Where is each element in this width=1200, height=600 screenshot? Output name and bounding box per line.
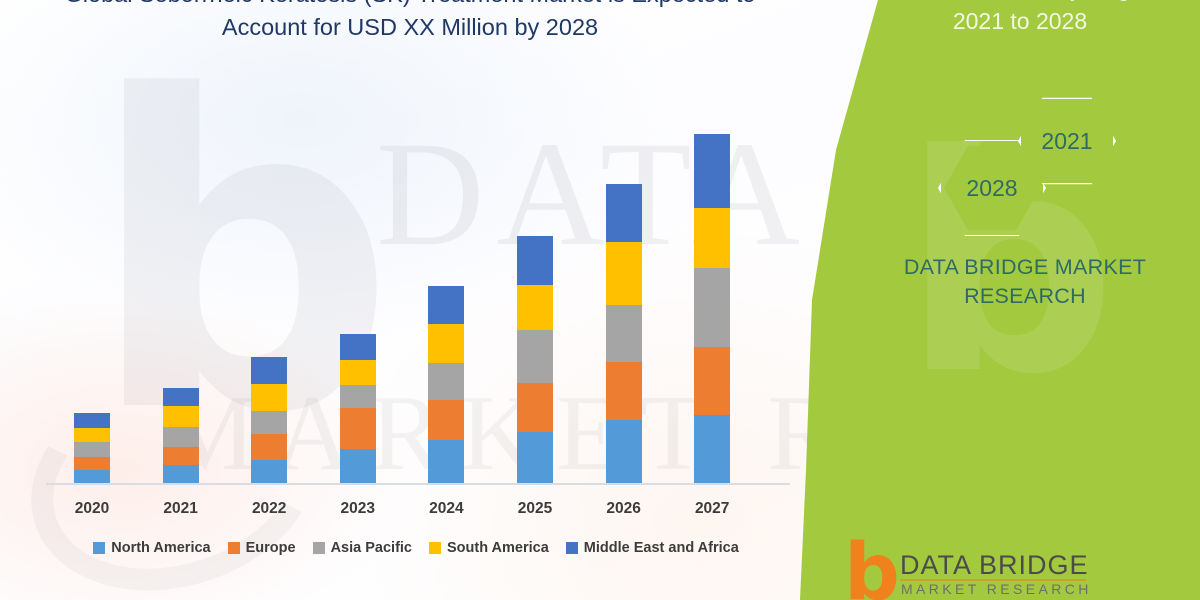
legend-label: South America — [447, 540, 549, 556]
bar-segment — [517, 236, 553, 285]
bar-segment — [251, 460, 287, 483]
x-axis-label: 2022 — [234, 500, 304, 518]
bar-segment — [517, 285, 553, 330]
bar-segment — [606, 184, 642, 242]
legend-swatch-icon — [228, 542, 240, 554]
legend-swatch-icon — [429, 542, 441, 554]
bar-segment — [694, 347, 730, 415]
chart-legend: North AmericaEuropeAsia PacificSouth Ame… — [46, 540, 786, 556]
legend-swatch-icon — [313, 542, 325, 554]
bar-segment — [74, 442, 110, 457]
bar-segment — [251, 434, 287, 460]
legend-swatch-icon — [566, 542, 578, 554]
logo-wordmark: DATA BRIDGE — [900, 550, 1089, 581]
legend-item[interactable]: South America — [429, 540, 549, 556]
bar-segment — [694, 134, 730, 208]
stacked-bar-chart: 20202021202220232024202520262027 North A… — [0, 0, 820, 600]
bar-segment — [163, 388, 199, 406]
bar-segment — [606, 420, 642, 483]
bar-segment — [428, 440, 464, 483]
hexagon-label-2028: 2028 — [966, 175, 1017, 202]
bar-column — [340, 334, 376, 483]
bar-column — [163, 388, 199, 483]
bar-segment — [428, 363, 464, 400]
legend-item[interactable]: Europe — [228, 540, 296, 556]
legend-item[interactable]: Middle East and Africa — [566, 540, 739, 556]
x-axis-line — [46, 483, 790, 485]
bar-column — [251, 357, 287, 483]
legend-label: Asia Pacific — [331, 540, 412, 556]
bar-column — [606, 184, 642, 483]
bar-segment — [340, 408, 376, 449]
legend-label: North America — [111, 540, 210, 556]
bar-segment — [428, 400, 464, 440]
bar-segment — [517, 383, 553, 432]
x-axis-label: 2024 — [411, 500, 481, 518]
bar-segment — [340, 334, 376, 360]
bar-column — [694, 134, 730, 483]
x-axis-label: 2025 — [500, 500, 570, 518]
bar-segment — [694, 415, 730, 483]
bar-segment — [74, 457, 110, 470]
x-axis-label: 2026 — [589, 500, 659, 518]
bar-segment — [428, 286, 464, 324]
bar-column — [517, 236, 553, 483]
brand-name: DATA BRIDGE MARKET RESEARCH — [880, 253, 1170, 311]
legend-label: Middle East and Africa — [584, 540, 739, 556]
dbmr-logo: b DATA BRIDGE MARKET RESEARCH — [840, 548, 1170, 600]
bar-segment — [606, 242, 642, 305]
infographic-canvas: b DATA BRIDGE MARKET RESEARCH Global Seb… — [0, 0, 1200, 600]
bar-column — [428, 286, 464, 483]
bar-segment — [74, 428, 110, 442]
bar-segment — [340, 385, 376, 408]
bar-segment — [517, 432, 553, 483]
bar-segment — [74, 470, 110, 483]
hexagon-label-2021: 2021 — [1041, 128, 1092, 155]
legend-swatch-icon — [93, 542, 105, 554]
bar-segment — [340, 449, 376, 483]
bar-segment — [428, 324, 464, 363]
bar-segment — [163, 427, 199, 447]
legend-label: Europe — [246, 540, 296, 556]
x-axis-label: 2027 — [677, 500, 747, 518]
right-panel-title: Treatment Market, By Regions, 2021 to 20… — [845, 0, 1195, 38]
x-axis-label: 2023 — [323, 500, 393, 518]
bar-segment — [163, 447, 199, 465]
bar-segment — [606, 362, 642, 420]
bar-column — [74, 413, 110, 483]
bar-segment — [251, 357, 287, 384]
legend-item[interactable]: North America — [93, 540, 210, 556]
bar-segment — [74, 413, 110, 428]
bar-segment — [694, 268, 730, 347]
x-axis-label: 2021 — [146, 500, 216, 518]
bar-segment — [694, 208, 730, 268]
bar-segment — [517, 330, 553, 383]
legend-item[interactable]: Asia Pacific — [313, 540, 412, 556]
bar-segment — [163, 406, 199, 427]
bar-segment — [251, 411, 287, 434]
logo-subtitle: MARKET RESEARCH — [901, 581, 1092, 597]
bar-segment — [340, 360, 376, 385]
bar-segment — [251, 384, 287, 411]
bar-segment — [606, 305, 642, 362]
x-axis-label: 2020 — [57, 500, 127, 518]
bar-segment — [163, 465, 199, 483]
